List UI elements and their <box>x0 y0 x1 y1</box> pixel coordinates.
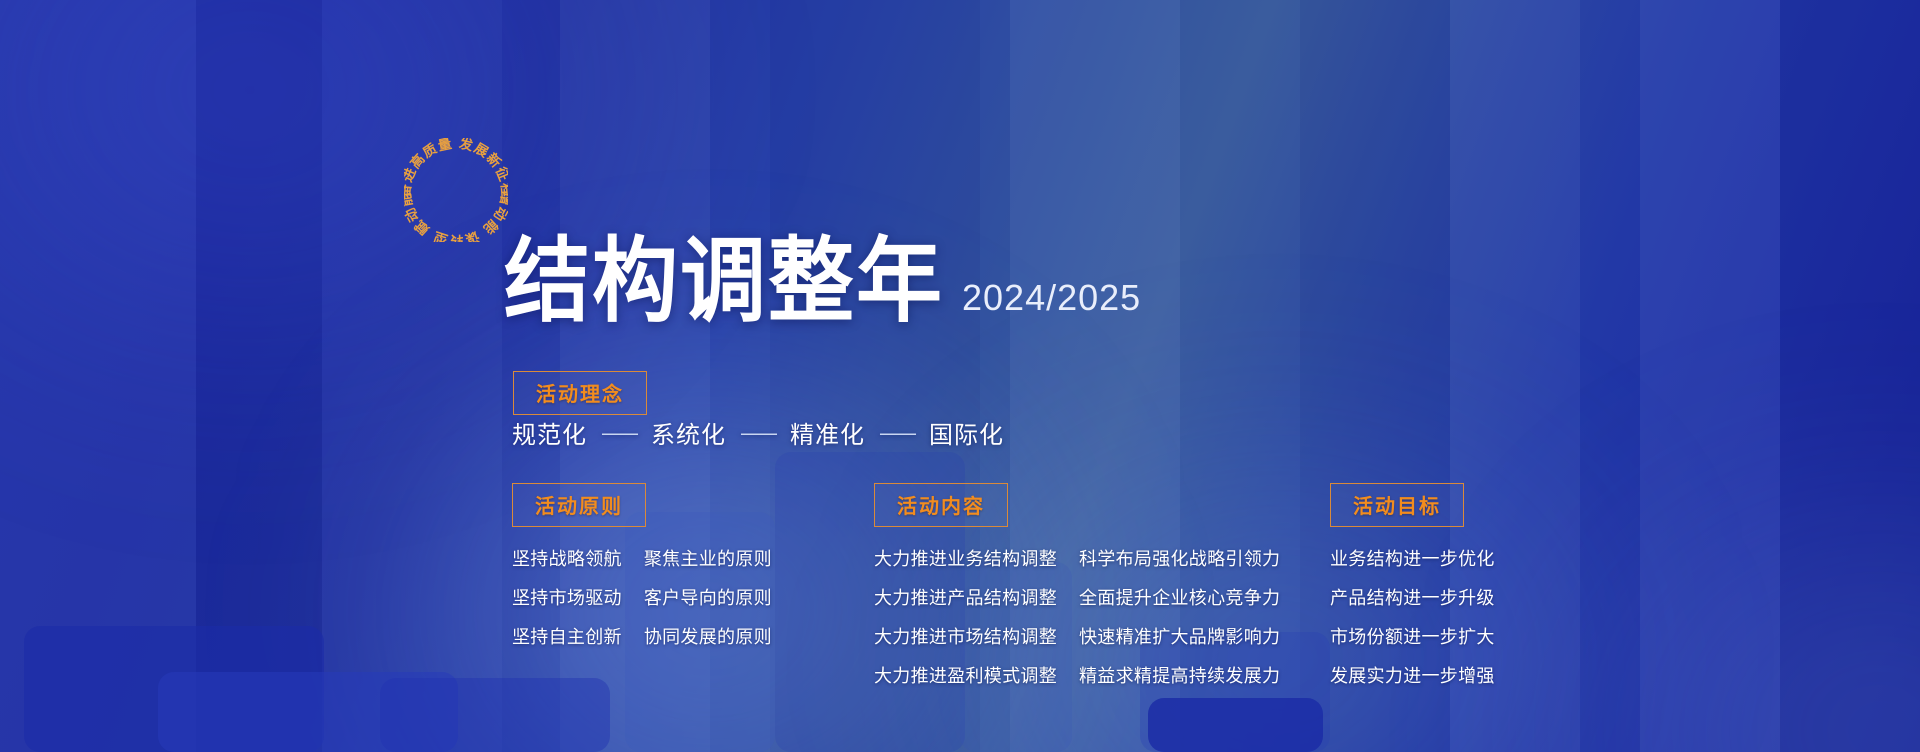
column-activity-content: 活动内容 大力推进业务结构调整科学布局强化战略引领力大力推进产品结构调整全面提升… <box>874 483 1280 688</box>
rows-activity-content: 大力推进业务结构调整科学布局强化战略引领力大力推进产品结构调整全面提升企业核心竞… <box>874 545 1280 688</box>
list-item: 大力推进产品结构调整全面提升企业核心竞争力 <box>874 584 1280 610</box>
chain-item: 规范化 <box>512 415 587 450</box>
list-item-left: 产品结构进一步升级 <box>1330 588 1495 609</box>
chain-item: 国际化 <box>929 415 1004 450</box>
column-activity-goals: 活动目标 业务结构进一步优化产品结构进一步升级市场份额进一步扩大发展实力进一步增… <box>1330 483 1495 688</box>
list-item-left: 大力推进产品结构调整 <box>874 584 1057 610</box>
list-item-left: 大力推进业务结构调整 <box>874 545 1057 571</box>
list-item: 坚持市场驱动客户导向的原则 <box>512 584 772 610</box>
rows-activity-goals: 业务结构进一步优化产品结构进一步升级市场份额进一步扩大发展实力进一步增强 <box>1330 545 1495 688</box>
circular-seal-text: 奋进高质量 发展新征程 增动能 谋转型 赋动能 <box>404 138 508 242</box>
list-item: 大力推进业务结构调整科学布局强化战略引领力 <box>874 545 1280 571</box>
concept-chain: 规范化——系统化——精准化——国际化 <box>512 415 1004 450</box>
list-item: 坚持自主创新协同发展的原则 <box>512 623 772 649</box>
list-item: 市场份额进一步扩大 <box>1330 623 1495 649</box>
list-item-right: 快速精准扩大品牌影响力 <box>1079 623 1280 649</box>
chain-separator: —— <box>601 421 637 445</box>
list-item: 大力推进市场结构调整快速精准扩大品牌影响力 <box>874 623 1280 649</box>
banner-content: 奋进高质量 发展新征程 增动能 谋转型 赋动能 结构调整年 2024/2025 … <box>0 0 1920 752</box>
seal-text-top: 奋进高质量 发展新征程 <box>404 138 508 199</box>
list-item-left: 大力推进盈利模式调整 <box>874 662 1057 688</box>
list-item: 发展实力进一步增强 <box>1330 662 1495 688</box>
chain-separator: —— <box>740 421 776 445</box>
seal-bottom-path: 增动能 谋转型 赋动能 <box>404 191 508 242</box>
list-item-left: 市场份额进一步扩大 <box>1330 627 1495 648</box>
rows-activity-principles: 坚持战略领航聚焦主业的原则坚持市场驱动客户导向的原则坚持自主创新协同发展的原则 <box>512 545 772 649</box>
seal-ring-icon: 奋进高质量 发展新征程 增动能 谋转型 赋动能 <box>404 138 508 242</box>
badge-activity-goals: 活动目标 <box>1330 483 1464 527</box>
chain-separator: —— <box>879 421 915 445</box>
list-item-right: 聚焦主业的原则 <box>644 545 772 571</box>
list-item-right: 全面提升企业核心竞争力 <box>1079 584 1280 610</box>
seal-text-bottom: 增动能 谋转型 赋动能 <box>404 191 508 242</box>
page-title: 结构调整年 <box>504 236 944 327</box>
list-item-right: 精益求精提高持续发展力 <box>1079 662 1280 688</box>
banner-root: 奋进高质量 发展新征程 增动能 谋转型 赋动能 结构调整年 2024/2025 … <box>0 0 1920 752</box>
list-item-left: 坚持市场驱动 <box>512 584 622 610</box>
title-row: 结构调整年 2024/2025 <box>504 243 1141 327</box>
list-item-left: 坚持战略领航 <box>512 545 622 571</box>
list-item-left: 业务结构进一步优化 <box>1330 549 1495 570</box>
list-item-right: 协同发展的原则 <box>644 623 772 649</box>
list-item-left: 发展实力进一步增强 <box>1330 666 1495 687</box>
list-item: 大力推进盈利模式调整精益求精提高持续发展力 <box>874 662 1280 688</box>
badge-activity-concept: 活动理念 <box>513 371 647 415</box>
list-item: 业务结构进一步优化 <box>1330 545 1495 571</box>
list-item-left: 大力推进市场结构调整 <box>874 623 1057 649</box>
chain-item: 精准化 <box>790 415 865 450</box>
list-item-right: 科学布局强化战略引领力 <box>1079 545 1280 571</box>
column-activity-principles: 活动原则 坚持战略领航聚焦主业的原则坚持市场驱动客户导向的原则坚持自主创新协同发… <box>512 483 772 649</box>
list-item: 产品结构进一步升级 <box>1330 584 1495 610</box>
year-range: 2024/2025 <box>962 277 1141 327</box>
badge-activity-principles: 活动原则 <box>512 483 646 527</box>
list-item-right: 客户导向的原则 <box>644 584 772 610</box>
list-item-left: 坚持自主创新 <box>512 623 622 649</box>
seal-top-path: 奋进高质量 发展新征程 <box>404 138 508 199</box>
chain-item: 系统化 <box>651 415 726 450</box>
list-item: 坚持战略领航聚焦主业的原则 <box>512 545 772 571</box>
badge-activity-content: 活动内容 <box>874 483 1008 527</box>
